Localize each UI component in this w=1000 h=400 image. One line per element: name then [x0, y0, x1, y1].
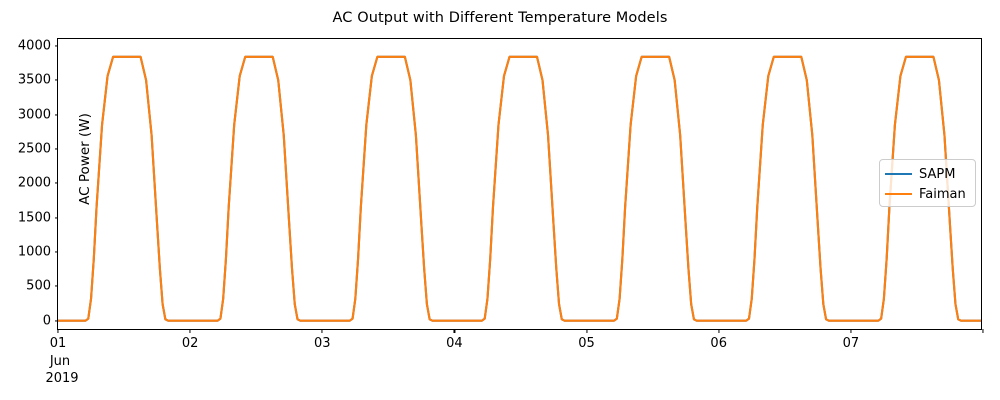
chart-title: AC Output with Different Temperature Mod… [0, 10, 1000, 26]
x-tick-mark [57, 329, 58, 333]
legend-swatch-sapm [885, 173, 912, 175]
y-tick-label: 3000 [18, 107, 58, 122]
y-tick-label: 4000 [18, 38, 58, 53]
x-tick-mark [982, 329, 983, 333]
legend-label-faiman: Faiman [919, 188, 966, 201]
x-tick-mark [190, 329, 191, 333]
matplotlib-figure: AC Output with Different Temperature Mod… [0, 0, 1000, 400]
x-tick-mark [850, 329, 851, 333]
x-tick-mark [322, 329, 323, 333]
series-line-faiman [58, 57, 981, 321]
legend-entry-faiman[interactable]: Faiman [885, 184, 969, 204]
x-tick-mark [718, 329, 719, 333]
y-tick-label: 2000 [18, 176, 58, 191]
legend-entry-sapm[interactable]: SAPM [885, 164, 969, 184]
legend-swatch-faiman [885, 193, 912, 195]
y-tick-label: 500 [26, 279, 58, 294]
series-line-sapm [58, 57, 981, 321]
y-tick-label: 2500 [18, 141, 58, 156]
plot-axes: AC Power (W) 050010001500200025003000350… [57, 38, 982, 330]
legend-label-sapm: SAPM [919, 168, 955, 181]
x-tick-mark [454, 329, 455, 333]
y-tick-label: 3500 [18, 73, 58, 88]
series-lines [58, 39, 981, 329]
x-axis-sublabel: 2019 [45, 371, 78, 386]
series-plot-region [58, 39, 981, 329]
y-tick-label: 1500 [18, 210, 58, 225]
x-axis-sublabel: Jun [50, 354, 70, 369]
x-tick-mark [586, 329, 587, 333]
y-tick-label: 1000 [18, 244, 58, 259]
legend[interactable]: SAPM Faiman [879, 159, 976, 207]
